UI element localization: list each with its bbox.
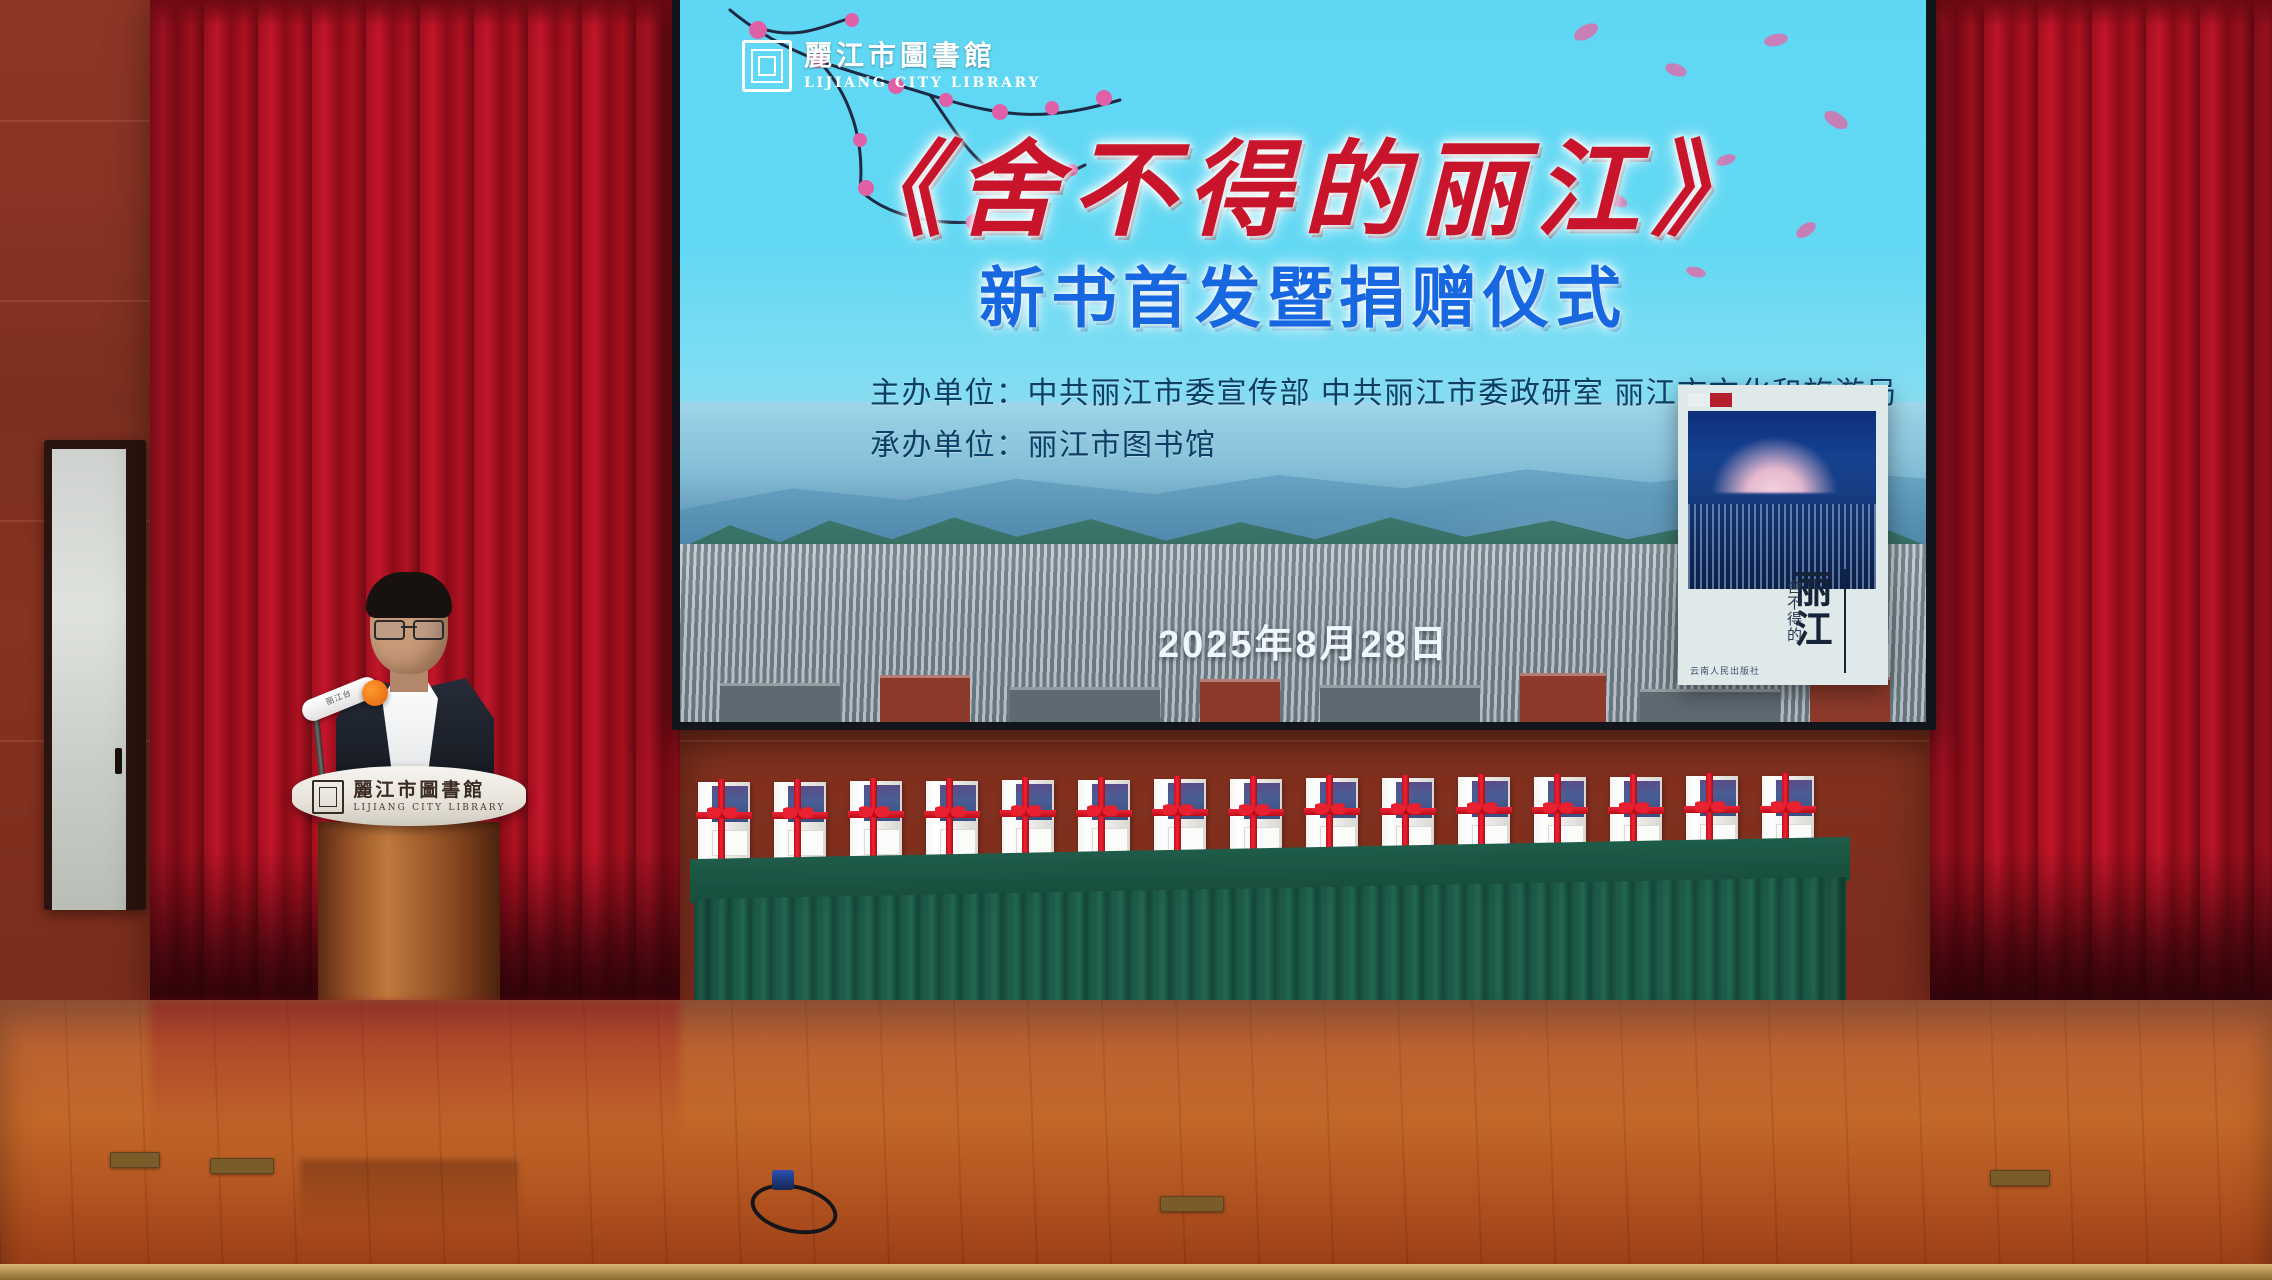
book-bundle <box>1154 779 1206 857</box>
led-screen: 麗江市圖書館 LIJIANG CITY LIBRARY 《舍不得的丽江》 新书首… <box>680 0 1926 722</box>
book-cover-tag-white <box>1688 393 1710 407</box>
library-seal-icon <box>742 40 792 92</box>
book-bundle <box>1230 779 1282 857</box>
speaker-shirt <box>382 682 438 774</box>
book-bundle <box>1306 778 1358 856</box>
banner-host-line: 承办单位：丽江市图书馆 <box>870 420 1217 464</box>
bundle-ribbon-bow <box>859 803 889 825</box>
screen-library-logo: 麗江市圖書館 LIJIANG CITY LIBRARY <box>742 40 1041 92</box>
banner-main-title: 《舍不得的丽江》 <box>680 105 1926 256</box>
bundle-ribbon-bow <box>1543 799 1573 821</box>
book-cover-photo <box>1688 411 1876 589</box>
floor-podium-reflection <box>300 1160 518 1230</box>
bundle-ribbon-bow <box>783 804 813 826</box>
floor-curtain-reflection <box>150 1000 680 1150</box>
podium-name-en: LIJIANG CITY LIBRARY <box>353 803 505 813</box>
door-handle[interactable] <box>115 748 122 774</box>
bundle-ribbon-bow <box>1239 801 1269 823</box>
bundle-ribbon-bow <box>1695 798 1725 820</box>
podium-name-cn: 麗江市圖書館 <box>353 781 505 800</box>
speaker-hair <box>366 572 452 618</box>
banner-sub-title: 新书首发暨捐赠仪式 <box>680 245 1926 341</box>
microphone-windscreen <box>362 680 388 706</box>
podium-library-logo: 麗江市圖書館 LIJIANG CITY LIBRARY <box>292 780 526 814</box>
bundle-ribbon-bow <box>1619 799 1649 821</box>
bundle-ribbon-bow <box>1771 798 1801 820</box>
library-name-en: LIJIANG CITY LIBRARY <box>804 76 1041 90</box>
bundle-ribbon-bow <box>1315 800 1345 822</box>
library-name-cn: 麗江市圖書館 <box>804 42 1041 70</box>
banner-date: 2025年8月28日 <box>1158 613 1450 668</box>
bundle-ribbon-bow <box>707 804 737 826</box>
bundle-ribbon-bow <box>1011 802 1041 824</box>
book-bundle <box>1078 780 1130 858</box>
book-cover-publisher: 云南人民出版社 <box>1690 664 1760 677</box>
floor-cable-connector <box>772 1170 794 1190</box>
book-cover-image: 丽江 舍不得的 云南人民出版社 <box>1678 385 1888 685</box>
side-door[interactable] <box>44 440 146 910</box>
book-cover-subtitle: 舍不得的 <box>1783 579 1804 665</box>
bundle-ribbon-bow <box>935 803 965 825</box>
stage-curtain-right <box>1930 0 2272 1010</box>
bundle-ribbon-bow <box>1391 800 1421 822</box>
led-screen-bezel: 麗江市圖書館 LIJIANG CITY LIBRARY 《舍不得的丽江》 新书首… <box>672 0 1936 730</box>
stage-scene: 麗江市圖書館 LIJIANG CITY LIBRARY 《舍不得的丽江》 新书首… <box>0 0 2272 1280</box>
library-seal-icon <box>312 780 344 814</box>
bundle-ribbon-bow <box>1087 802 1117 824</box>
bundle-ribbon-bow <box>1163 801 1193 823</box>
bundle-ribbon-bow <box>1467 799 1497 821</box>
door-glass-panel <box>52 449 126 910</box>
podium-top-panel: 麗江市圖書館 LIJIANG CITY LIBRARY <box>292 766 526 826</box>
glasses-icon <box>374 620 444 636</box>
book-bundle <box>1002 780 1054 858</box>
